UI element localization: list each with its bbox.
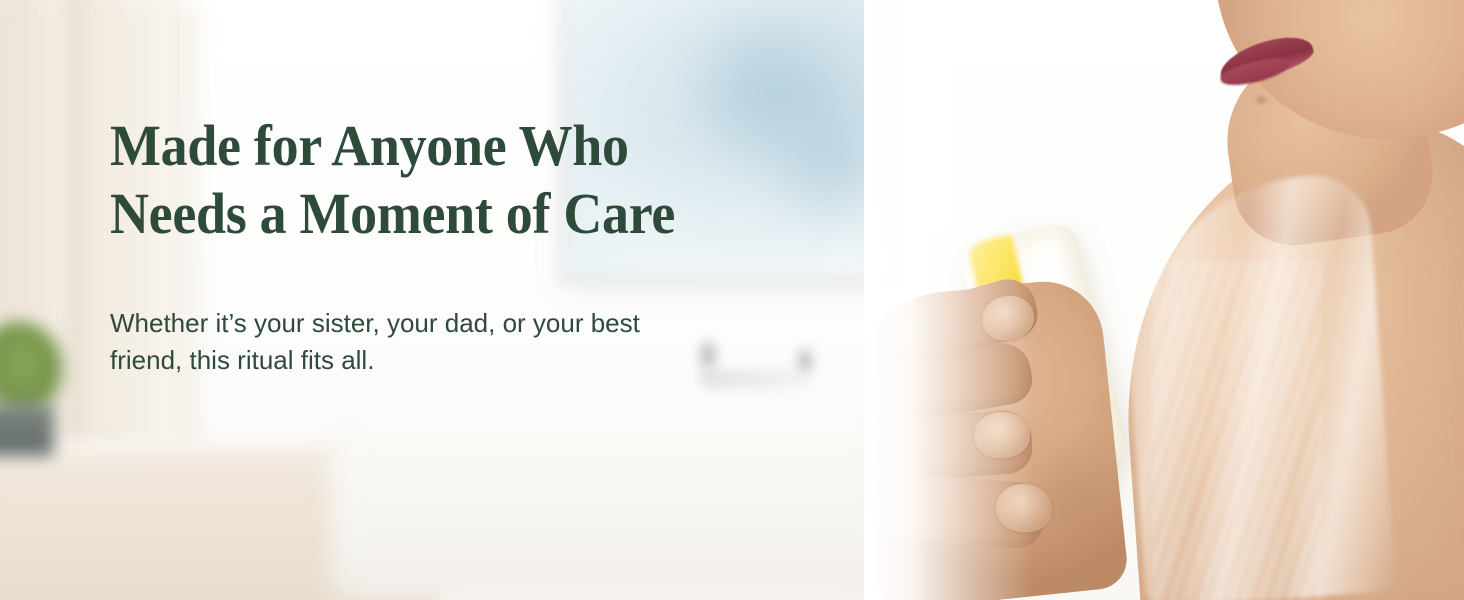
chin-figure	[1252, 94, 1270, 106]
product-photo-subject	[864, 0, 1464, 600]
banner-text-block: Made for Anyone Who Needs a Moment of Ca…	[110, 112, 870, 379]
promotional-banner: Made for Anyone Who Needs a Moment of Ca…	[0, 0, 1464, 600]
hand-shadow	[1014, 430, 1164, 600]
plant-pot-decoration	[0, 404, 54, 456]
basin-decoration	[330, 410, 890, 600]
banner-subheadline: Whether it’s your sister, your dad, or y…	[110, 305, 810, 379]
banner-headline: Made for Anyone Who Needs a Moment of Ca…	[110, 112, 817, 249]
lather-texture	[1152, 260, 1322, 600]
